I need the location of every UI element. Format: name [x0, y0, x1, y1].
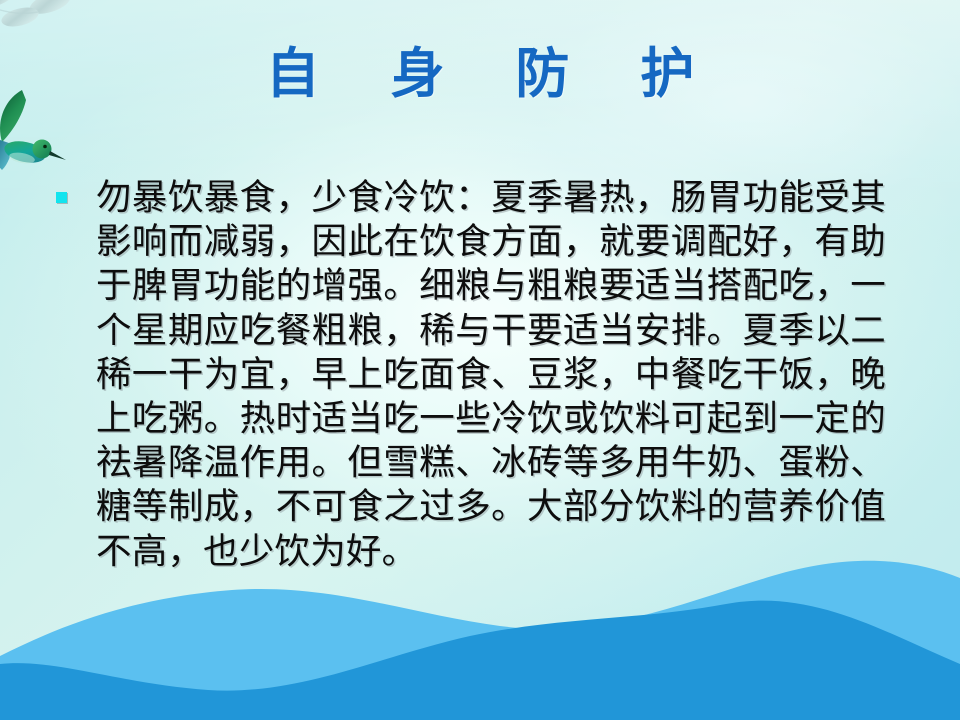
body-content-block: 勿暴饮暴食，少食冷饮：夏季暑热，肠胃功能受其影响而减弱，因此在饮食方面，就要调配…	[56, 176, 886, 574]
wave-decoration	[0, 540, 960, 720]
bullet-row: 勿暴饮暴食，少食冷饮：夏季暑热，肠胃功能受其影响而减弱，因此在饮食方面，就要调配…	[56, 176, 886, 574]
slide-canvas: 自 身 防 护 勿暴饮暴食，少食冷饮：夏季暑热，肠胃功能受其影响而减弱，因此在饮…	[0, 0, 960, 720]
square-bullet-icon	[56, 192, 67, 203]
slide-title: 自 身 防 护	[0, 44, 960, 103]
body-paragraph: 勿暴饮暴食，少食冷饮：夏季暑热，肠胃功能受其影响而减弱，因此在饮食方面，就要调配…	[56, 176, 886, 574]
